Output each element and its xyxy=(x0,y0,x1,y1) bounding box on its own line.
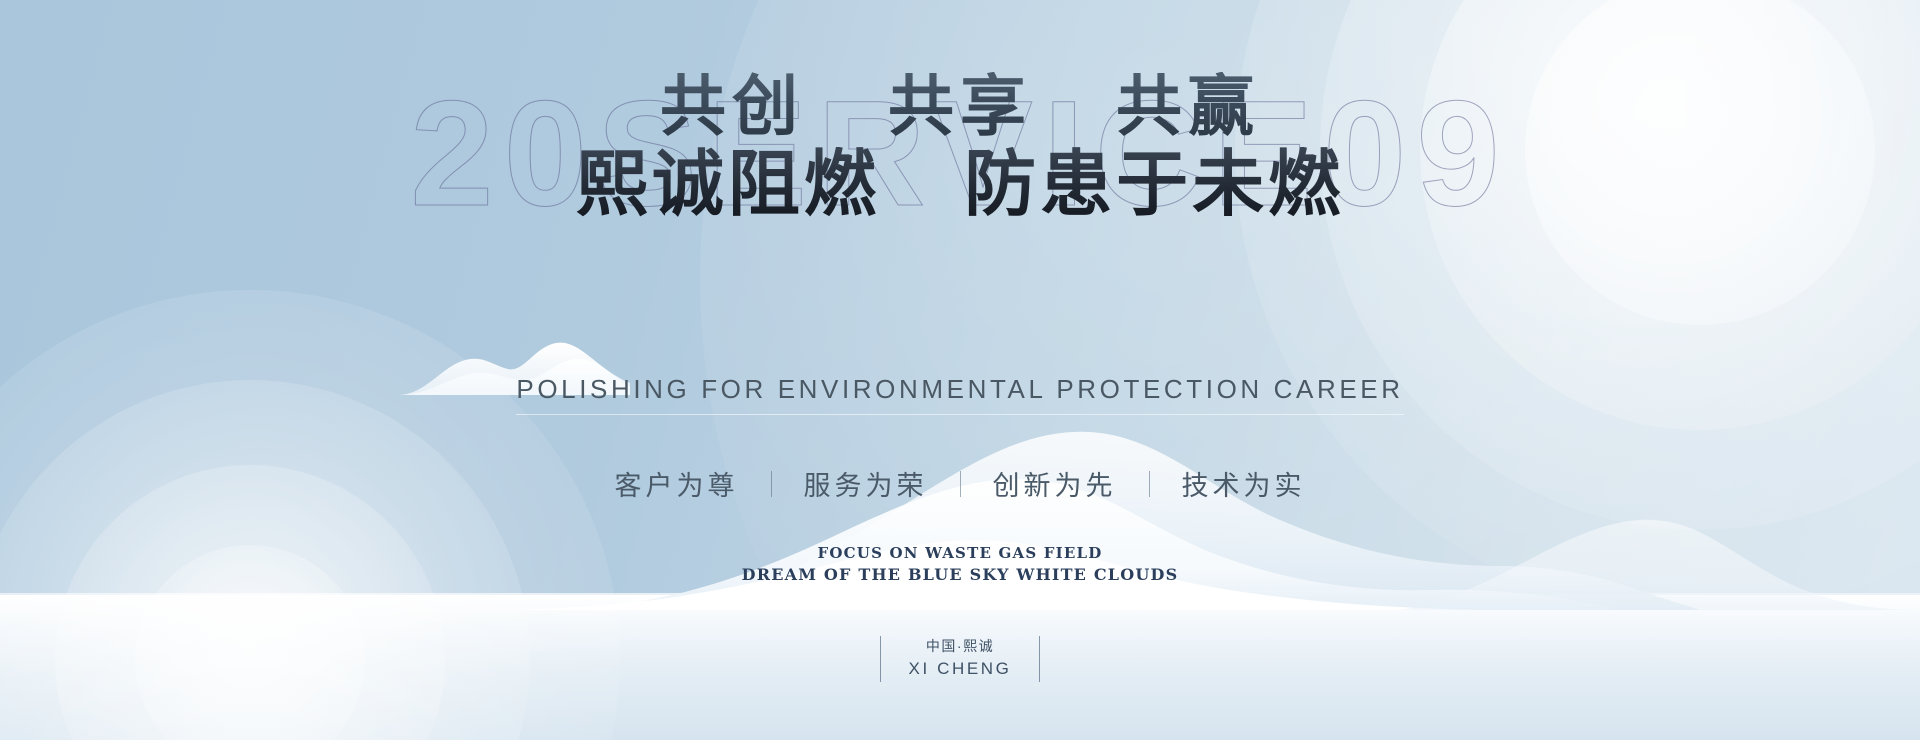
value-item-2: 服务为荣 xyxy=(772,464,960,503)
couplet-line-2: DREAM OF THE BLUE SKY WHITE CLOUDS xyxy=(0,564,1920,587)
values-row: 客户为尊 服务为荣 创新为先 技术为实 xyxy=(0,464,1920,503)
couplet-block: FOCUS ON WASTE GAS FIELD DREAM OF THE BL… xyxy=(0,543,1920,587)
value-item-4: 技术为实 xyxy=(1150,464,1338,503)
footer-bar-left xyxy=(880,636,881,682)
value-item-3: 创新为先 xyxy=(961,464,1149,503)
footer-bar-right xyxy=(1039,636,1040,682)
headline-seg-1: 共创 xyxy=(660,72,804,141)
headline-seg-5: 防患于未燃 xyxy=(964,147,1344,222)
headline-block: 共创 共享 共赢 熙诚阻燃 防患于未燃 xyxy=(0,72,1920,222)
headline-seg-3: 共赢 xyxy=(1116,72,1260,141)
footer-brand-en: XI CHENG xyxy=(909,658,1012,681)
value-item-1: 客户为尊 xyxy=(583,464,771,503)
footer-text: 中国·熙诚 XI CHENG xyxy=(909,637,1012,681)
footer-brand-cn: 中国·熙诚 xyxy=(909,637,1012,656)
headline-seg-2: 共享 xyxy=(888,72,1032,141)
couplet-line-1: FOCUS ON WASTE GAS FIELD xyxy=(0,543,1920,564)
poster-stage: 20SERVICE09 共创 共享 共赢 熙诚阻燃 防患于未燃 POLISHIN… xyxy=(0,0,1920,740)
headline-line-2: 熙诚阻燃 防患于未燃 xyxy=(0,147,1920,222)
footer-logo-lockup: 中国·熙诚 XI CHENG xyxy=(0,636,1920,682)
headline-line-1: 共创 共享 共赢 xyxy=(0,72,1920,141)
tagline-wrap: POLISHING FOR ENVIRONMENTAL PROTECTION C… xyxy=(0,374,1920,415)
english-tagline: POLISHING FOR ENVIRONMENTAL PROTECTION C… xyxy=(516,374,1403,415)
headline-seg-4: 熙诚阻燃 xyxy=(576,147,880,222)
